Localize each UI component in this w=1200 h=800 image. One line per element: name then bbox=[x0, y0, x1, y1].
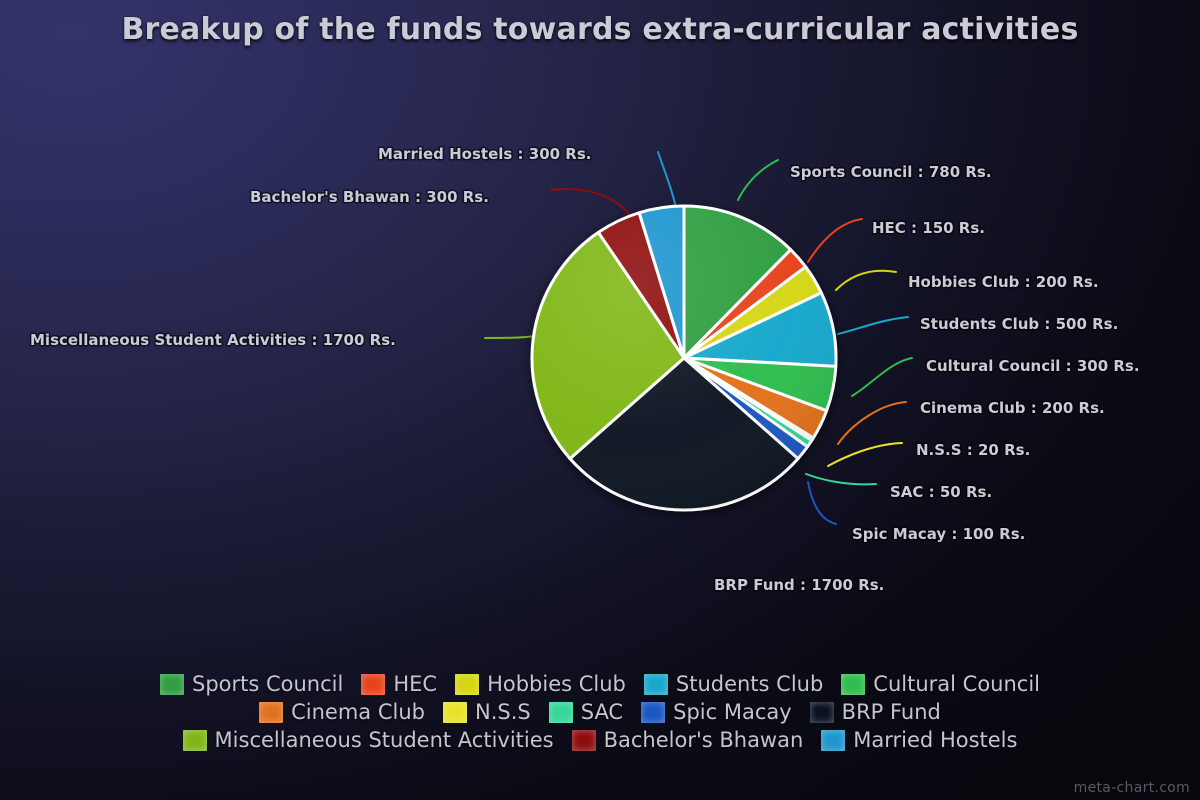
legend-label: BRP Fund bbox=[842, 700, 941, 724]
leader-line bbox=[738, 160, 778, 200]
legend-item[interactable]: Cultural Council bbox=[841, 672, 1040, 696]
legend-item[interactable]: Married Hostels bbox=[821, 728, 1017, 752]
leader-line bbox=[551, 189, 635, 222]
legend-label: Hobbies Club bbox=[487, 672, 626, 696]
leader-line bbox=[852, 358, 912, 396]
legend-label: Cinema Club bbox=[291, 700, 425, 724]
slice-callout-label: Bachelor's Bhawan : 300 Rs. bbox=[250, 188, 489, 206]
legend-label: N.S.S bbox=[475, 700, 531, 724]
leader-line bbox=[838, 317, 908, 334]
legend-label: Married Hostels bbox=[853, 728, 1017, 752]
leader-line bbox=[808, 482, 836, 524]
slice-callout-label: Hobbies Club : 200 Rs. bbox=[908, 273, 1099, 291]
legend-swatch-icon bbox=[455, 674, 479, 695]
slice-callout-label: Cinema Club : 200 Rs. bbox=[920, 399, 1105, 417]
legend-swatch-icon bbox=[443, 702, 467, 723]
slice-callout-label: Students Club : 500 Rs. bbox=[920, 315, 1118, 333]
pie-slices bbox=[532, 206, 836, 510]
legend-item[interactable]: Spic Macay bbox=[641, 700, 792, 724]
legend-swatch-icon bbox=[183, 730, 207, 751]
leader-line bbox=[808, 219, 862, 262]
legend-row: Miscellaneous Student ActivitiesBachelor… bbox=[174, 728, 1027, 752]
leader-line bbox=[806, 474, 876, 484]
slice-callout-label: Cultural Council : 300 Rs. bbox=[926, 357, 1140, 375]
legend-item[interactable]: Bachelor's Bhawan bbox=[572, 728, 804, 752]
legend-item[interactable]: Sports Council bbox=[160, 672, 343, 696]
legend: Sports CouncilHECHobbies ClubStudents Cl… bbox=[0, 672, 1200, 752]
legend-label: Sports Council bbox=[192, 672, 343, 696]
legend-item[interactable]: HEC bbox=[361, 672, 437, 696]
legend-swatch-icon bbox=[572, 730, 596, 751]
legend-label: HEC bbox=[393, 672, 437, 696]
legend-row: Cinema ClubN.S.SSACSpic MacayBRP Fund bbox=[250, 700, 950, 724]
leader-line bbox=[838, 402, 906, 444]
legend-swatch-icon bbox=[644, 674, 668, 695]
legend-label: Students Club bbox=[676, 672, 823, 696]
legend-swatch-icon bbox=[160, 674, 184, 695]
legend-swatch-icon bbox=[841, 674, 865, 695]
legend-item[interactable]: SAC bbox=[549, 700, 623, 724]
legend-item[interactable]: BRP Fund bbox=[810, 700, 941, 724]
legend-label: SAC bbox=[581, 700, 623, 724]
legend-row: Sports CouncilHECHobbies ClubStudents Cl… bbox=[151, 672, 1049, 696]
legend-item[interactable]: Hobbies Club bbox=[455, 672, 626, 696]
legend-label: Cultural Council bbox=[873, 672, 1040, 696]
legend-item[interactable]: Students Club bbox=[644, 672, 823, 696]
leader-line bbox=[836, 271, 896, 290]
chart-canvas: Breakup of the funds towards extra-curri… bbox=[0, 0, 1200, 800]
legend-item[interactable]: Miscellaneous Student Activities bbox=[183, 728, 554, 752]
legend-label: Bachelor's Bhawan bbox=[604, 728, 804, 752]
legend-swatch-icon bbox=[821, 730, 845, 751]
legend-swatch-icon bbox=[810, 702, 834, 723]
leader-line bbox=[684, 516, 700, 576]
slice-callout-label: N.S.S : 20 Rs. bbox=[916, 441, 1030, 459]
leader-line bbox=[658, 152, 676, 208]
slice-callout-label: HEC : 150 Rs. bbox=[872, 219, 985, 237]
slice-callout-label: Miscellaneous Student Activities : 1700 … bbox=[30, 331, 396, 349]
legend-label: Spic Macay bbox=[673, 700, 792, 724]
watermark: meta-chart.com bbox=[1074, 780, 1190, 796]
legend-swatch-icon bbox=[641, 702, 665, 723]
slice-callout-label: Spic Macay : 100 Rs. bbox=[852, 525, 1025, 543]
legend-item[interactable]: Cinema Club bbox=[259, 700, 425, 724]
legend-swatch-icon bbox=[361, 674, 385, 695]
legend-swatch-icon bbox=[259, 702, 283, 723]
legend-swatch-icon bbox=[549, 702, 573, 723]
slice-callout-label: Married Hostels : 300 Rs. bbox=[378, 145, 591, 163]
slice-callout-label: Sports Council : 780 Rs. bbox=[790, 163, 992, 181]
leader-line bbox=[828, 443, 902, 466]
slice-callout-label: BRP Fund : 1700 Rs. bbox=[714, 576, 884, 594]
legend-item[interactable]: N.S.S bbox=[443, 700, 531, 724]
legend-label: Miscellaneous Student Activities bbox=[215, 728, 554, 752]
slice-callout-label: SAC : 50 Rs. bbox=[890, 483, 992, 501]
